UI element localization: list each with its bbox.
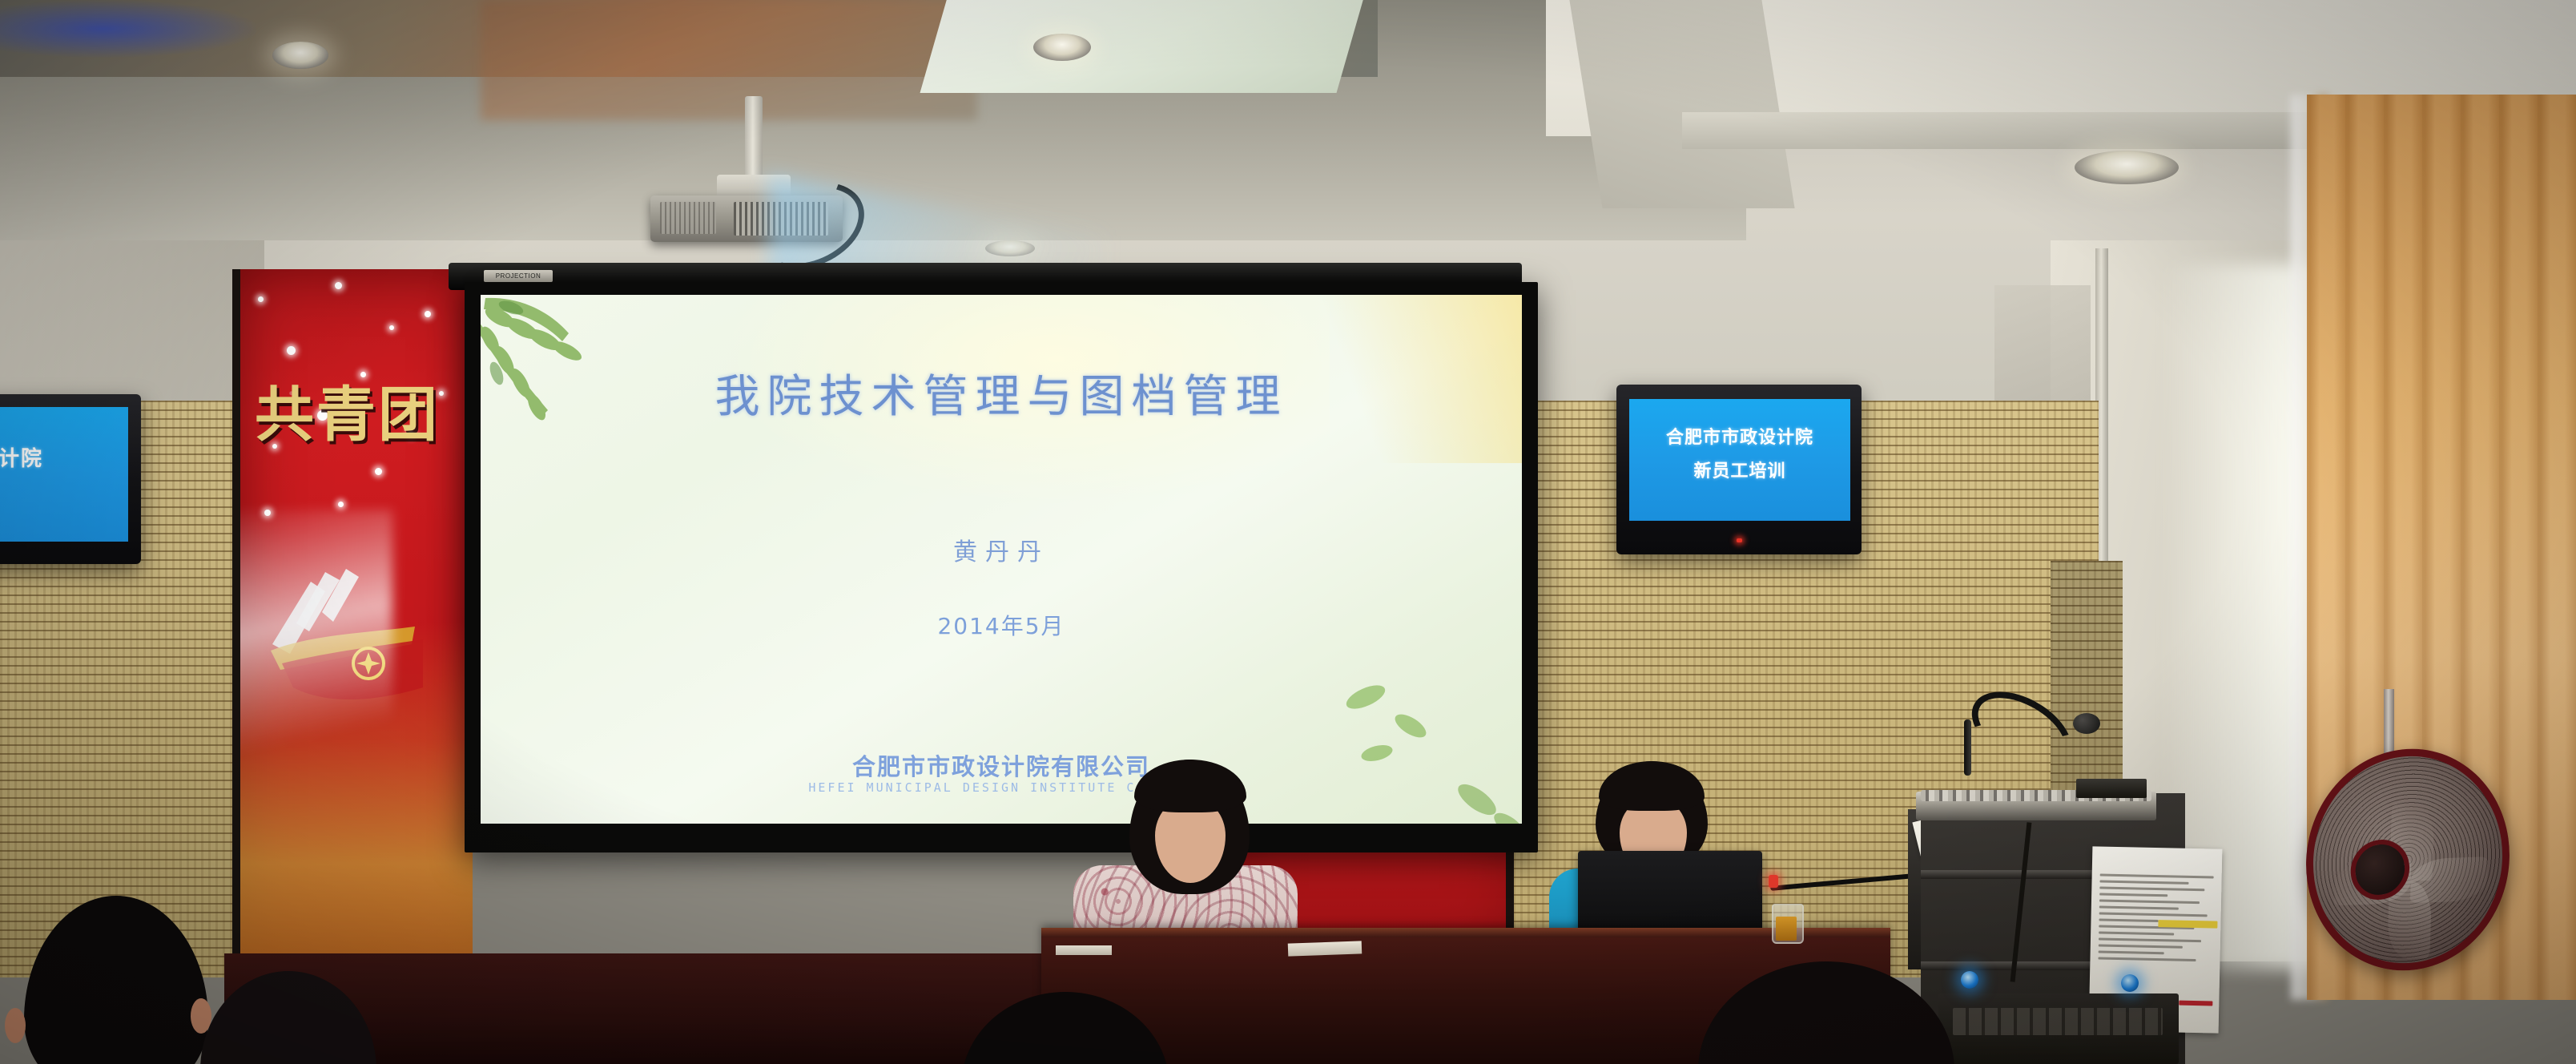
- microphone-stem: [1964, 719, 1971, 776]
- table-edge: [1041, 928, 1890, 937]
- banner-text-left: 共青团: [255, 367, 440, 453]
- tv-left-line1: 市政设计院: [0, 442, 128, 472]
- acoustic-panel-center: [136, 401, 240, 977]
- table-papers: [1056, 945, 1112, 955]
- downlight-icon: [1033, 34, 1091, 61]
- projector-front-panel: [660, 202, 716, 234]
- amplifier-led-icon: [2121, 974, 2139, 992]
- audience-ear: [5, 1008, 26, 1043]
- microphone-led-icon: [1769, 875, 1778, 888]
- amplifier-led-icon: [1961, 971, 1978, 989]
- tv-screen-left: 市政设计院 工培训: [0, 407, 128, 542]
- tv-right-line2: 新员工培训: [1629, 457, 1850, 482]
- tv-screen-right: 合肥市市政设计院 新员工培训: [1629, 399, 1850, 521]
- tv-power-led: [1737, 538, 1742, 542]
- downlight-icon: [2075, 151, 2179, 184]
- tv-monitor-right: 合肥市市政设计院 新员工培训: [1616, 385, 1862, 554]
- amplifier-front-panel: [1953, 1008, 2163, 1035]
- notice-highlight: [2158, 920, 2217, 929]
- tv-left-line2: 工培训: [0, 481, 128, 510]
- projection-screen-surface: 我院技术管理与图档管理 黄丹丹 2014年5月 合肥市市政设计院有限公司 HEF…: [481, 295, 1522, 824]
- conference-room-scene: 共青团 司委员会 PROJECTION: [0, 0, 2576, 1064]
- table-papers: [1288, 941, 1362, 956]
- notice-body-lines: [2098, 874, 2213, 966]
- tea-cup: [1772, 904, 1804, 944]
- microphone-head-icon: [2073, 713, 2100, 734]
- slide-org-chinese: 合肥市市政设计院有限公司: [481, 748, 1522, 782]
- downlight-icon: [272, 42, 328, 69]
- slide-org-english: HEFEI MUNICIPAL DESIGN INSTITUTE CO.,LTD: [481, 780, 1522, 795]
- banner-sheen-left: [232, 510, 392, 766]
- slide-author: 黄丹丹: [481, 532, 1522, 567]
- notice-arrow-icon: [2179, 1001, 2212, 1006]
- presenter-fringe: [1134, 760, 1246, 812]
- projector-mount-pole: [745, 96, 763, 184]
- tv-right-line1: 合肥市市政设计院: [1629, 423, 1850, 449]
- ceiling-drop-section: [1569, 0, 1794, 208]
- mixer-module: [2076, 779, 2147, 798]
- ceiling-reflection: [481, 0, 977, 120]
- ceiling-blue-reflection: [0, 0, 256, 58]
- tea-liquid: [1776, 917, 1797, 941]
- slide-title: 我院技术管理与图档管理: [481, 361, 1522, 425]
- operator-fringe: [1599, 761, 1705, 811]
- slide-date: 2014年5月: [481, 609, 1522, 641]
- screen-brand-badge: PROJECTION: [484, 270, 553, 282]
- tv-monitor-left: 市政设计院 工培训: [0, 394, 141, 564]
- ceiling-light-panel: [920, 0, 1371, 93]
- projection-screen-frame: 我院技术管理与图档管理 黄丹丹 2014年5月 合肥市市政设计院有限公司 HEF…: [465, 282, 1538, 852]
- notice-title: [2092, 856, 2222, 863]
